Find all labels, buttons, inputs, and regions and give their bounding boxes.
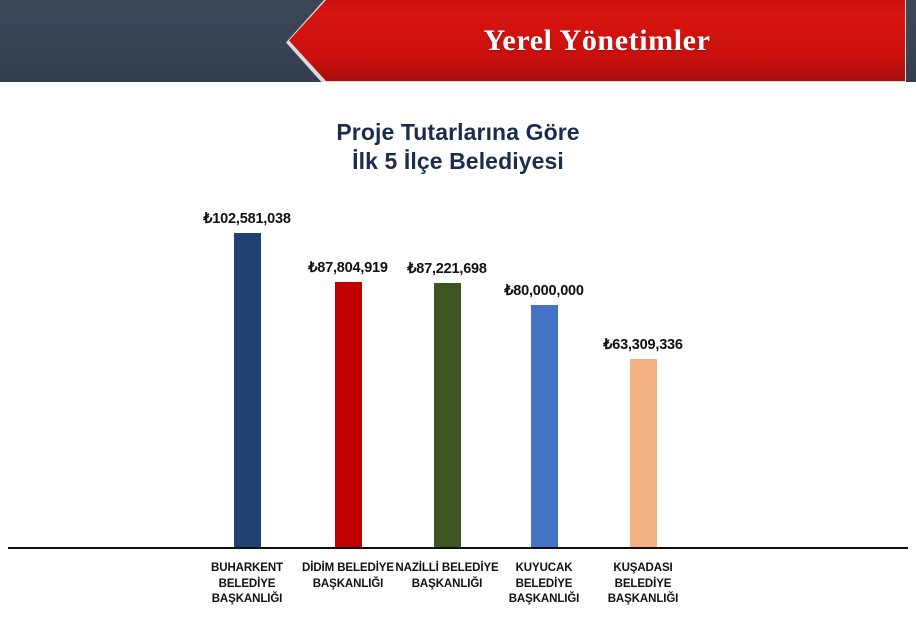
bar[interactable] (234, 233, 261, 547)
category-label-line: KUŞADASI (583, 561, 703, 577)
category-label-line: BAŞKANLIĞI (187, 592, 307, 608)
bar-wrap (583, 359, 703, 547)
bar[interactable] (434, 283, 461, 547)
bar-value-label: ₺102,581,038 (163, 211, 331, 227)
bar-value-label: ₺63,309,336 (559, 337, 727, 353)
chart-area: Proje Tutarlarına Göre İlk 5 İlçe Beledi… (0, 82, 916, 641)
bar[interactable] (335, 282, 362, 547)
category-label-line: BAŞKANLIĞI (583, 592, 703, 608)
category-label: KUŞADASIBELEDİYEBAŞKANLIĞI (583, 561, 703, 608)
bar-value-label: ₺80,000,000 (460, 283, 628, 299)
bar[interactable] (531, 305, 558, 547)
x-axis-labels: BUHARKENTBELEDİYEBAŞKANLIĞIDİDİM BELEDİY… (0, 549, 916, 641)
category-label-line: BELEDİYE (583, 577, 703, 593)
bar-value-label: ₺87,221,698 (363, 261, 531, 277)
bar[interactable] (630, 359, 657, 547)
page-title: Yerel Yönetimler (289, 0, 905, 81)
bar-chart-plot: ₺102,581,038₺87,804,919₺87,221,698₺80,00… (0, 82, 916, 641)
